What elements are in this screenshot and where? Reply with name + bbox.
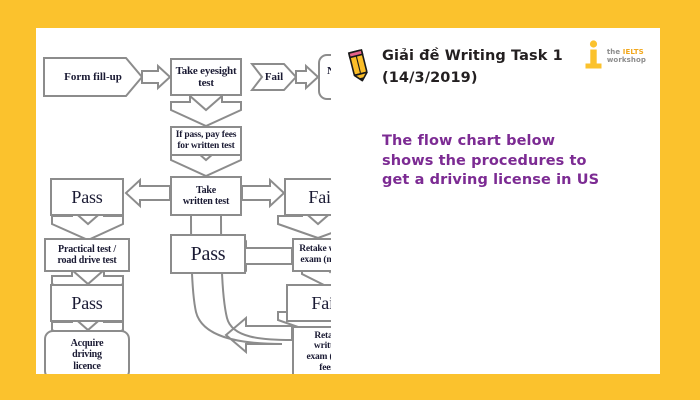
pencil-icon bbox=[344, 48, 374, 82]
node-pass-practical: Pass bbox=[50, 284, 124, 322]
slide-canvas: Form fill-up Take eyesight test Fail No … bbox=[0, 0, 700, 400]
node-pass-written: Pass bbox=[50, 178, 124, 216]
node-take-written-test: Take written test bbox=[170, 176, 242, 216]
node-practical-road-test: Practical test / road drive test bbox=[44, 238, 130, 272]
node-pass-practical-mid: Pass bbox=[170, 234, 246, 274]
logo-workshop-text: workshop bbox=[607, 57, 646, 64]
node-no-licence-given: No licence given bbox=[318, 54, 331, 100]
page-title: Giải đề Writing Task 1 (14/3/2019) bbox=[382, 46, 563, 90]
letter-i-icon bbox=[584, 40, 603, 70]
node-form-fill-up: Form fill-up bbox=[44, 58, 142, 96]
node-fail-eyesight: Fail bbox=[252, 64, 296, 90]
brand-logo: the IELTS workshop bbox=[584, 40, 646, 70]
node-acquire-driving-licence: Acquire driving licence bbox=[44, 330, 130, 374]
flowchart-canvas: Form fill-up Take eyesight test Fail No … bbox=[36, 28, 331, 374]
node-retake-written-no-fees: Retake written exam (no fees) bbox=[292, 238, 331, 272]
node-retake-written-with-fees: Retake written exam (with fees) bbox=[292, 326, 331, 374]
node-take-eyesight-test: Take eyesight test bbox=[170, 58, 242, 96]
logo-wordmark: the IELTS workshop bbox=[607, 46, 646, 64]
task-prompt-text: The flow chart below shows the procedure… bbox=[382, 132, 650, 191]
content-card: Form fill-up Take eyesight test Fail No … bbox=[36, 28, 660, 374]
node-if-pass-pay-fees: If pass, pay fees for written test bbox=[170, 126, 242, 156]
right-content-column: Giải đề Writing Task 1 (14/3/2019) The f… bbox=[336, 28, 660, 374]
flowchart-image: Form fill-up Take eyesight test Fail No … bbox=[36, 28, 331, 374]
logo-the-text: the bbox=[607, 48, 623, 56]
node-fail-written: Fail bbox=[284, 178, 331, 216]
logo-ielts-text: IELTS bbox=[623, 48, 644, 56]
node-fail-practical: Fail bbox=[286, 284, 331, 322]
